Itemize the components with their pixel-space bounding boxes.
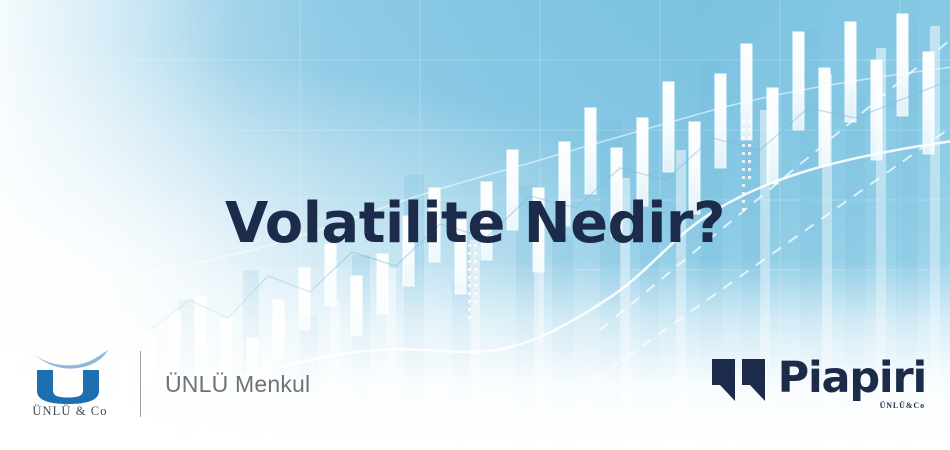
brand-label-unlu-menkul: ÜNLÜ Menkul <box>165 371 310 398</box>
piapiri-text-block: Piapiri ÜNLÜ&Co <box>778 357 926 400</box>
piapiri-wordmark: Piapiri <box>778 357 926 400</box>
piapiri-logo: Piapiri ÜNLÜ&Co <box>712 357 926 401</box>
banner-root: Volatilite Nedir? ÜNLÜ & Co ÜNLÜ Menkul … <box>0 0 950 450</box>
unlu-wordmark: ÜNLÜ & Co <box>22 404 118 419</box>
piapiri-double-flag-icon <box>712 359 766 401</box>
left-brand-lockup: ÜNLÜ & Co ÜNLÜ Menkul <box>22 348 310 420</box>
piapiri-sub-wordmark: ÜNLÜ&Co <box>880 401 925 410</box>
unlu-co-logo: ÜNLÜ & Co <box>22 348 118 420</box>
vertical-divider <box>140 351 141 417</box>
page-title: Volatilite Nedir? <box>0 192 950 256</box>
unlu-swoosh-icon <box>32 349 110 371</box>
unlu-u-logo-icon <box>37 370 99 404</box>
